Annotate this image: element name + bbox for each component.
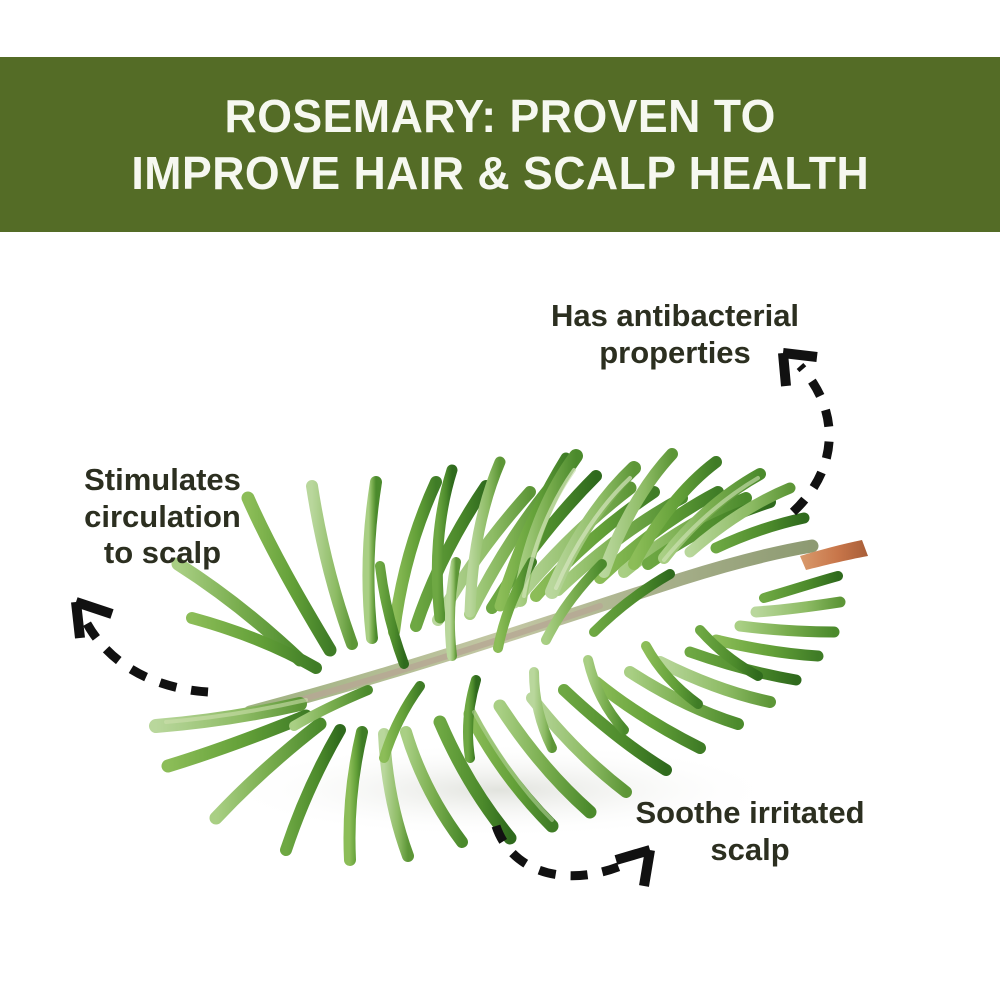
arrow-circulation-icon: [76, 602, 208, 692]
callout-antibacterial: Has antibacterial properties: [450, 298, 900, 371]
callout-circulation-line-2: circulation: [30, 499, 295, 536]
callout-antibacterial-line-2: properties: [450, 335, 900, 372]
rosemary-benefits-infographic: ROSEMARY: PROVEN TO IMPROVE HAIR & SCALP…: [0, 0, 1000, 1000]
header-banner: ROSEMARY: PROVEN TO IMPROVE HAIR & SCALP…: [0, 57, 1000, 232]
banner-title-line-1: ROSEMARY: PROVEN TO: [224, 88, 775, 144]
callout-soothe-line-1: Soothe irritated: [570, 795, 930, 832]
callout-antibacterial-line-1: Has antibacterial: [450, 298, 900, 335]
arrow-antibacterial-icon: [783, 353, 829, 512]
callout-soothe: Soothe irritated scalp: [570, 795, 930, 868]
banner-title-line-2: IMPROVE HAIR & SCALP HEALTH: [131, 145, 869, 201]
callout-circulation: Stimulates circulation to scalp: [30, 462, 295, 572]
callout-circulation-line-1: Stimulates: [30, 462, 295, 499]
callout-circulation-line-3: to scalp: [30, 535, 295, 572]
callout-soothe-line-2: scalp: [570, 832, 930, 869]
